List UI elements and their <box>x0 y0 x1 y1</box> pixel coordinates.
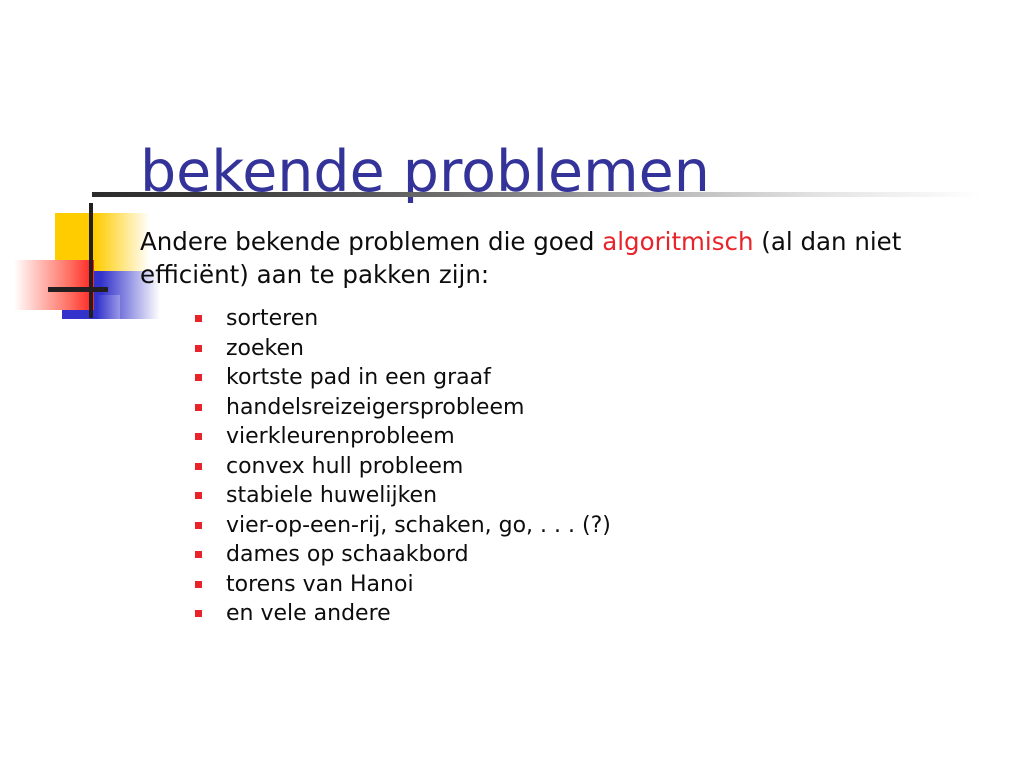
list-item: vier-op-een-rij, schaken, go, . . . (?) <box>140 511 990 541</box>
square-bullet-icon <box>195 581 202 588</box>
list-item-label: convex hull probleem <box>226 454 463 479</box>
square-bullet-icon <box>195 492 202 499</box>
list-item-label: stabiele huwelijken <box>226 483 437 508</box>
list-item: zoeken <box>140 334 990 364</box>
square-bullet-icon <box>195 315 202 322</box>
title-divider <box>92 192 982 197</box>
list-item: torens van Hanoi <box>140 570 990 600</box>
square-bullet-icon <box>195 551 202 558</box>
list-item-label: handelsreizeigersprobleem <box>226 395 524 420</box>
square-bullet-icon <box>195 463 202 470</box>
list-item-label: vier-op-een-rij, schaken, go, . . . (?) <box>226 513 611 538</box>
list-item: dames op schaakbord <box>140 540 990 570</box>
lead-highlight-algoritmisch: algoritmisch <box>602 227 753 256</box>
list-item: sorteren <box>140 304 990 334</box>
red-square-icon <box>14 260 94 310</box>
list-item: convex hull probleem <box>140 452 990 482</box>
list-item-label: vierkleurenprobleem <box>226 424 455 449</box>
square-bullet-icon <box>195 345 202 352</box>
list-item: stabiele huwelijken <box>140 481 990 511</box>
list-item-label: torens van Hanoi <box>226 572 414 597</box>
square-bullet-icon <box>195 374 202 381</box>
slide-body: Andere bekende problemen die goed algori… <box>140 225 990 629</box>
lead-text-before: Andere bekende problemen die goed <box>140 227 602 256</box>
lead-paragraph: Andere bekende problemen die goed algori… <box>140 225 980 291</box>
list-item: vierkleurenprobleem <box>140 422 990 452</box>
list-item: kortste pad in een graaf <box>140 363 990 393</box>
list-item: en vele andere <box>140 599 990 629</box>
list-item-label: dames op schaakbord <box>226 542 469 567</box>
horizontal-bar-icon <box>48 287 108 292</box>
list-item: handelsreizeigersprobleem <box>140 393 990 423</box>
list-item-label: kortste pad in een graaf <box>226 365 491 390</box>
presentation-slide: bekende problemen Andere bekende problem… <box>0 0 1024 768</box>
problem-bullet-list: sorterenzoekenkortste pad in een graafha… <box>140 304 990 629</box>
square-bullet-icon <box>195 610 202 617</box>
square-bullet-icon <box>195 522 202 529</box>
list-item-label: zoeken <box>226 336 304 361</box>
square-bullet-icon <box>195 404 202 411</box>
vertical-bar-icon <box>89 203 93 318</box>
list-item-label: en vele andere <box>226 601 391 626</box>
list-item-label: sorteren <box>226 306 318 331</box>
square-bullet-icon <box>195 433 202 440</box>
